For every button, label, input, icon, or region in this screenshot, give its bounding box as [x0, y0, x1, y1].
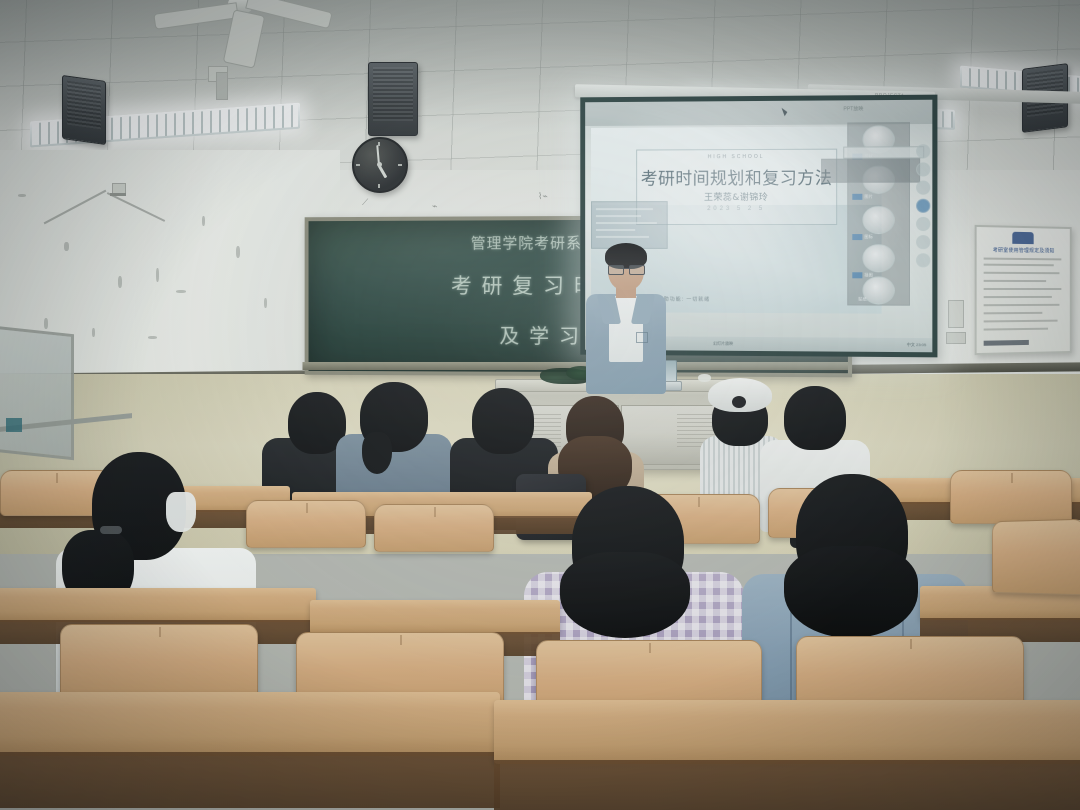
chair-notch [434, 507, 436, 517]
chair-notch [159, 627, 161, 637]
cap-strap-hole [732, 396, 746, 408]
desk-row-front-left [0, 588, 316, 622]
chair-middle-1[interactable] [246, 500, 366, 548]
clock-tick-6 [378, 184, 380, 188]
wall-clock [352, 137, 408, 193]
fan-blade-2 [153, 2, 238, 30]
wall-stain-6 [44, 318, 48, 329]
wall-stain-8 [148, 336, 157, 339]
wall-stain-7 [92, 328, 95, 337]
wall-mark-2: ⌁ [432, 202, 437, 212]
wall-stain-10 [236, 246, 240, 258]
presenter-speaker [578, 246, 674, 396]
university-crest-icon [1012, 232, 1033, 244]
wall-stain-11 [264, 298, 267, 308]
poster-line-3 [984, 272, 1060, 274]
hair-tie-icon [100, 526, 122, 534]
chair-notch [400, 635, 402, 645]
desk-row-front-center [310, 600, 560, 634]
poster-line-7 [984, 304, 1060, 306]
wall-notice-poster: 考研室使用管理规定及须知 [975, 225, 1072, 355]
wall-stain-5 [176, 290, 186, 293]
student-head [784, 386, 846, 450]
chair-right-aisle[interactable] [950, 470, 1072, 524]
glasses-bridge [623, 268, 629, 269]
wall-mark-1: ⟋ [362, 198, 368, 208]
ceiling-fan [150, 0, 330, 74]
clock-tick-9 [356, 164, 360, 166]
chair-notch [1011, 473, 1013, 483]
face-mask [166, 492, 196, 532]
wall-stain-4 [156, 268, 159, 282]
desk-front-panel [494, 760, 1080, 810]
wall-speaker-left [62, 75, 106, 145]
poster-line-10 [984, 328, 1048, 331]
poster-footer-bar [984, 340, 1029, 346]
chair-notch [649, 643, 651, 653]
poster-line-1 [984, 258, 1062, 261]
clock-tick-3 [398, 164, 402, 166]
student-head [472, 388, 534, 454]
student-hair-long [784, 546, 918, 638]
wall-speaker-center [368, 62, 418, 136]
wall-switch-shadow [110, 193, 126, 196]
presenter-jacket-pocket [636, 332, 648, 343]
chair-far-right-1[interactable] [992, 519, 1080, 596]
wall-stain-1 [18, 194, 26, 197]
glasses-icon [608, 265, 644, 273]
wall-house-scuff-2 [107, 192, 165, 222]
ceiling-device-body [216, 72, 228, 100]
poster-title-text: 考研室使用管理规定及须知 [977, 246, 1070, 254]
wall-stain-2 [64, 242, 69, 251]
left-window-frame [0, 326, 74, 460]
glasses-lens-right [629, 265, 645, 275]
wall-house-scuff [44, 190, 107, 225]
poster-line-6 [984, 296, 1052, 298]
chair-middle-2[interactable] [374, 504, 494, 552]
poster-line-4 [984, 280, 1046, 282]
right-wall-plate [948, 300, 964, 328]
wall-mark-3: ⌇⌁ [538, 192, 548, 202]
clock-center-dot [377, 162, 382, 167]
wall-stain-9 [202, 216, 205, 226]
right-wall-plate-lower [946, 332, 966, 344]
classroom-photo: PROJECTA ⟋ ⌁ ⌇⌁ [0, 0, 1080, 810]
poster-line-8 [984, 312, 1043, 314]
poster-line-2 [984, 264, 1054, 267]
chair-notch [910, 639, 912, 649]
poster-line-9 [984, 320, 1058, 323]
glasses-lens-left [608, 265, 624, 275]
poster-line-5 [984, 288, 1062, 290]
chair-notch [306, 503, 308, 513]
desk-foreground-right [494, 700, 1080, 764]
desk-foreground-left [0, 692, 500, 756]
student-hair-long [362, 432, 392, 474]
left-wall-teal-object [6, 418, 22, 432]
student-hair-long [560, 552, 690, 638]
wall-stain-3 [118, 276, 122, 288]
desk-front-panel [0, 752, 500, 808]
